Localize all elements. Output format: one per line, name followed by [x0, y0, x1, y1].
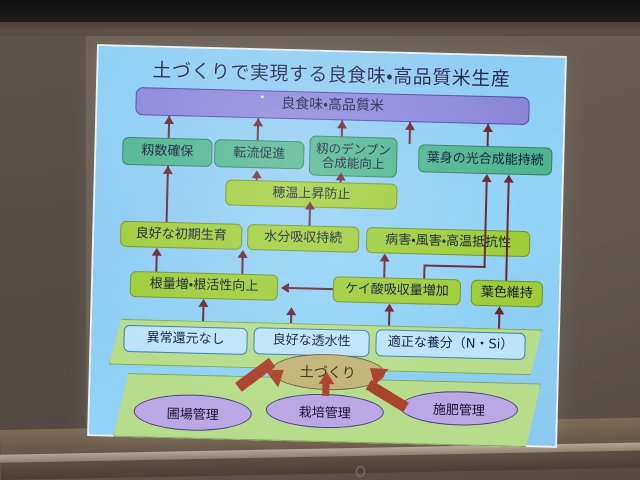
arrow-silica-to-rootmass	[289, 287, 333, 291]
arrow-silica-to-resistance	[383, 259, 386, 277]
arrowhead-shoon-to-tenryu	[252, 170, 262, 178]
outcome-box-tenryu-sokushin: 転流促進	[214, 139, 305, 169]
arrow-nutrients-to-silica	[388, 310, 391, 328]
arrowhead-permeability-to-early-growth	[286, 307, 296, 315]
arrowhead-no-reduction-to-rootmass	[198, 299, 208, 307]
condition-box-good-permeability: 良好な透水性	[253, 327, 370, 357]
mechanism-box-good-early-growth: 良好な初期生育	[120, 221, 243, 250]
arrowhead-leafcolor-to-photosynthesis	[504, 174, 514, 182]
arrowhead-komisu-to-goal	[164, 116, 174, 124]
arrowhead-suibun-to-shoon	[305, 201, 315, 209]
photograph-of-projected-slide: 土づくりで実現する良食味・高品質米生産 良食味・高品質米 籾数確保 転流促進 籾…	[0, 0, 640, 480]
arrowhead-tenryu-to-goal	[253, 118, 263, 126]
outcome-box-starch-synthesis: 籾のデンプン 合成能向上	[309, 136, 398, 178]
arrowhead-shoon-to-starch	[336, 172, 346, 180]
arrowhead-silica-to-resistance	[380, 253, 390, 261]
arrowhead-shokigen-to-momi	[163, 166, 173, 174]
arrow-root-to-water-uptake	[241, 256, 244, 274]
root-box-silica-uptake: ケイ酸吸収量増加	[333, 276, 462, 305]
goal-box: 良食味・高品質米	[135, 87, 530, 125]
arrowhead-photosynth-to-goal	[483, 124, 493, 132]
arrow-shokigen-to-momi	[165, 166, 169, 230]
arrowhead-root-to-early-growth	[152, 248, 162, 256]
root-box-root-mass-activity: 根量増・根活性向上	[130, 271, 279, 301]
outcome-box-momi-kakuho: 籾数確保	[122, 137, 213, 167]
arrow-root-to-early-growth	[155, 254, 158, 272]
slide-highlight-dot	[261, 95, 264, 98]
block-arrowhead-cultivation-to-center	[319, 372, 335, 384]
slide-canvas: 土づくりで実現する良食味・高品質米生産 良食味・高品質米 籾数確保 転流促進 籾…	[87, 44, 567, 448]
arrow-nutrients-to-leafcolor	[498, 312, 501, 330]
desk-grommet	[356, 466, 365, 477]
mechanism-box-water-uptake: 水分吸収持続	[247, 224, 360, 253]
condition-box-proper-nutrients: 適正な養分（N・Si）	[375, 329, 526, 360]
arrowhead-sep-to-goal	[405, 122, 415, 130]
arrow-silica-to-photosynthesis-vertical	[423, 264, 426, 278]
wall-shadow-left	[0, 36, 86, 456]
arrowhead-nutrients-to-silica	[384, 303, 394, 311]
arrowhead-nutrients-to-leafcolor	[494, 306, 504, 314]
root-box-leaf-color: 葉色維持	[471, 280, 544, 308]
condition-box-no-abnormal-reduction: 異常還元なし	[123, 325, 248, 355]
arrowhead-root-to-water-uptake	[238, 250, 248, 258]
arrowhead-silica-to-rootmass	[281, 283, 289, 293]
projection-screen: 土づくりで実現する良食味・高品質米生産 良食味・高品質米 籾数確保 転流促進 籾…	[87, 44, 567, 448]
outcome-box-leaf-photosynthesis: 葉身の光合成能持続	[418, 144, 553, 175]
arrow-no-reduction-to-rootmass	[202, 305, 205, 323]
arrow-silica-to-photosynthesis-horizontal	[424, 264, 486, 268]
arrowhead-silica-to-photosynthesis	[482, 174, 492, 182]
arrowhead-starch-to-goal	[337, 120, 347, 128]
